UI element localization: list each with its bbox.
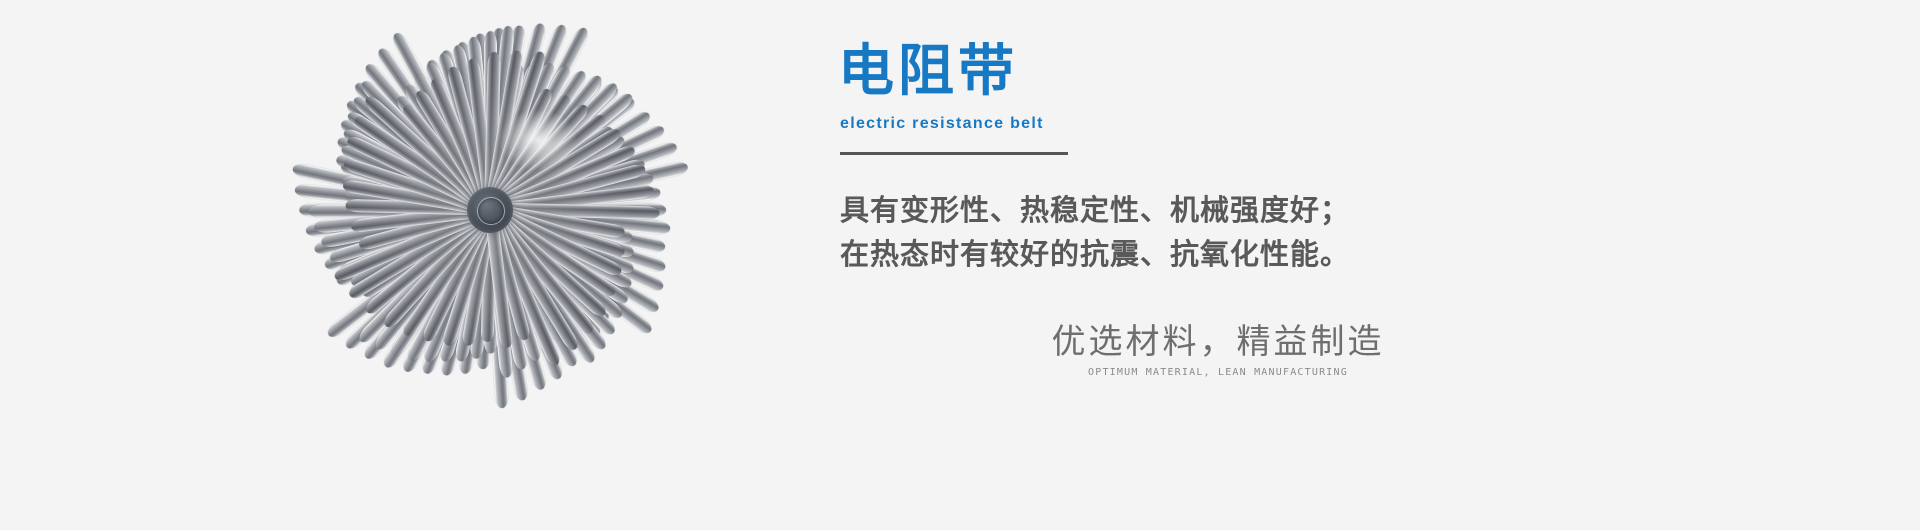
page-subtitle: electric resistance belt xyxy=(840,116,1044,132)
slogan-english: OPTIMUM MATERIAL, LEAN MANUFACTURING xyxy=(938,367,1498,379)
product-image xyxy=(300,30,680,390)
description-line-1: 具有变形性、热稳定性、机械强度好； xyxy=(840,188,1600,232)
page-title: 电阻带 xyxy=(838,44,1018,100)
product-description: 具有变形性、热稳定性、机械强度好； 在热态时有较好的抗震、抗氧化性能。 xyxy=(840,188,1600,276)
slogan-chinese: 优选材料，精益制造 xyxy=(938,322,1498,363)
coil-center-hub xyxy=(467,187,513,233)
description-line-2: 在热态时有较好的抗震、抗氧化性能。 xyxy=(840,232,1600,276)
content-column: 电阻带 electric resistance belt 具有变形性、热稳定性、… xyxy=(838,0,1738,530)
product-banner: 电阻带 electric resistance belt 具有变形性、热稳定性、… xyxy=(0,0,1920,530)
title-divider xyxy=(840,152,1068,155)
slogan-block: 优选材料，精益制造 OPTIMUM MATERIAL, LEAN MANUFAC… xyxy=(938,322,1498,379)
